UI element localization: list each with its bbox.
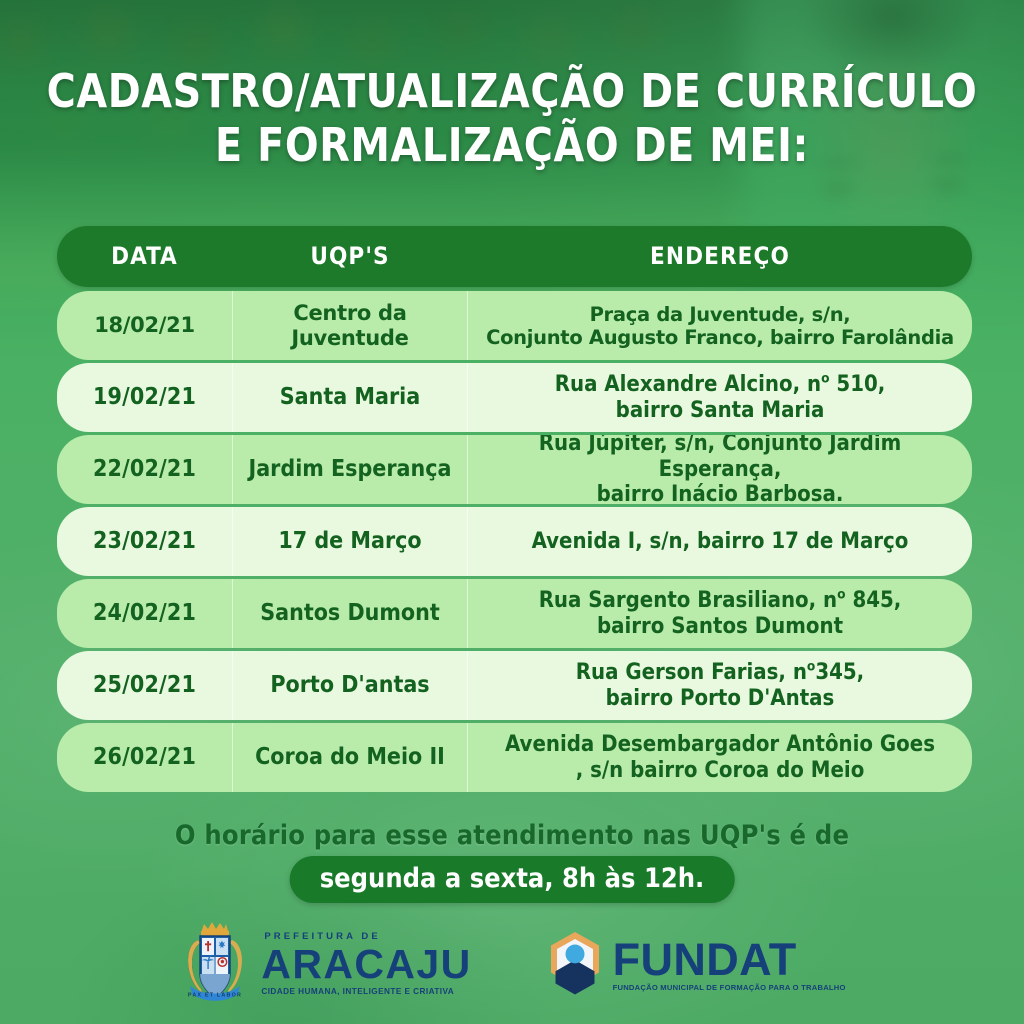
cell-uqp-line-1: Santos Dumont [260,600,440,627]
fundat-hexagon-person-icon [546,930,604,998]
aracaju-coat-of-arms-icon: PAX ET LABOR [178,918,252,1010]
column-header-endereco: ENDEREÇO [468,226,972,287]
cell-date: 26/02/21 [57,723,232,792]
cell-address-line-2: , s/n bairro Coroa do Meio [505,758,935,784]
cell-address-line-2: bairro Inácio Barbosa. [476,482,964,504]
schedule-note: O horário para esse atendimento nas UQP'… [0,820,1024,851]
cell-address-line-2: bairro Santos Dumont [539,614,902,640]
cell-uqp-line-1: Jardim Esperança [249,456,452,483]
cell-uqp-line-1: Porto D'antas [270,672,429,699]
poster-content: CADASTRO/ATUALIZAÇÃO DE CURRÍCULO E FORM… [0,0,1024,1024]
fundat-subtitle: FUNDAÇÃO MUNICIPAL DE FORMAÇÃO PARA O TR… [613,984,846,992]
table-row: 25/02/21 Porto D'antas Rua Gerson Farias… [57,651,972,720]
aracaju-slogan: CIDADE HUMANA, INTELIGENTE E CRIATIVA [261,988,471,996]
cell-uqp-line-1: Santa Maria [280,384,420,411]
title-line-1: CADASTRO/ATUALIZAÇÃO DE CURRÍCULO [20,64,1003,118]
cell-uqp: Santos Dumont [232,579,468,648]
cell-uqp: Coroa do Meio II [232,723,468,792]
page-title: CADASTRO/ATUALIZAÇÃO DE CURRÍCULO E FORM… [20,64,1003,173]
table-row: 23/02/21 17 de Março Avenida I, s/n, bai… [57,507,972,576]
logo-fundat: FUNDAT FUNDAÇÃO MUNICIPAL DE FORMAÇÃO PA… [546,930,846,998]
table-row: 18/02/21 Centro da Juventude Praça da Ju… [57,291,972,360]
cell-uqp: Porto D'antas [232,651,468,720]
cell-uqp: 17 de Março [232,507,468,576]
cell-uqp-line-1: Coroa do Meio II [255,744,445,771]
fundat-logo-text: FUNDAT FUNDAÇÃO MUNICIPAL DE FORMAÇÃO PA… [613,937,846,992]
cell-address: Rua Alexandre Alcino, no 510, bairro San… [468,363,972,432]
cell-date: 22/02/21 [57,435,232,504]
cell-address-line-1: Avenida I, s/n, bairro 17 de Março [532,529,909,555]
poster-canvas: CADASTRO/ATUALIZAÇÃO DE CURRÍCULO E FORM… [0,0,1024,1024]
cell-address-line-1: Rua Júpiter, s/n, Conjunto Jardim Espera… [476,435,964,482]
cell-uqp-line-2: Juventude [291,326,408,351]
cell-uqp: Jardim Esperança [232,435,468,504]
table-row: 26/02/21 Coroa do Meio II Avenida Desemb… [57,723,972,792]
table-row: 24/02/21 Santos Dumont Rua Sargento Bras… [57,579,972,648]
cell-address: Praça da Juventude, s/n, Conjunto August… [468,291,972,360]
cell-date: 23/02/21 [57,507,232,576]
cell-date: 25/02/21 [57,651,232,720]
cell-address-line-2: bairro Santa Maria [555,398,886,424]
cell-address-line-2: Conjunto Augusto Franco, bairro Farolând… [486,326,954,349]
cell-address-line-2: bairro Porto D'Antas [576,686,864,712]
cell-address-line-1: Rua Alexandre Alcino, no 510, [555,372,886,398]
schedule-hours-badge: segunda a sexta, 8h às 12h. [290,856,735,903]
logo-aracaju: PAX ET LABOR PREFEITURA DE ARACAJU CIDAD… [178,918,471,1010]
cell-date: 18/02/21 [57,291,232,360]
cell-address-line-1: Rua Gerson Farias, no345, [576,660,864,686]
aracaju-name: ARACAJU [261,944,471,985]
cell-date: 24/02/21 [57,579,232,648]
column-header-uqps: UQP'S [232,226,468,287]
schedule-table: DATA UQP'S ENDEREÇO 18/02/21 Centro da J… [57,226,972,795]
table-row: 19/02/21 Santa Maria Rua Alexandre Alcin… [57,363,972,432]
column-header-data: DATA [57,226,232,287]
cell-address: Avenida Desembargador Antônio Goes , s/n… [468,723,972,792]
logo-bar: PAX ET LABOR PREFEITURA DE ARACAJU CIDAD… [0,918,1024,1010]
svg-text:PAX ET LABOR: PAX ET LABOR [188,993,242,999]
cell-address-line-1: Avenida Desembargador Antônio Goes [505,732,935,758]
cell-address-line-1: Praça da Juventude, s/n, [486,303,954,326]
cell-uqp-line-1: 17 de Março [278,528,421,555]
table-header-row: DATA UQP'S ENDEREÇO [57,226,972,287]
fundat-name: FUNDAT [613,937,846,982]
table-row: 22/02/21 Jardim Esperança Rua Júpiter, s… [57,435,972,504]
aracaju-logo-text: PREFEITURA DE ARACAJU CIDADE HUMANA, INT… [261,932,471,996]
cell-address: Avenida I, s/n, bairro 17 de Março [468,507,972,576]
cell-uqp-line-1: Centro da [291,301,408,326]
cell-uqp: Santa Maria [232,363,468,432]
cell-address: Rua Sargento Brasiliano, no 845, bairro … [468,579,972,648]
cell-address: Rua Júpiter, s/n, Conjunto Jardim Espera… [468,435,972,504]
cell-date: 19/02/21 [57,363,232,432]
title-line-2: E FORMALIZAÇÃO DE MEI: [20,118,1003,172]
cell-address: Rua Gerson Farias, no345, bairro Porto D… [468,651,972,720]
cell-uqp: Centro da Juventude [232,291,468,360]
cell-address-line-1: Rua Sargento Brasiliano, no 845, [539,588,902,614]
